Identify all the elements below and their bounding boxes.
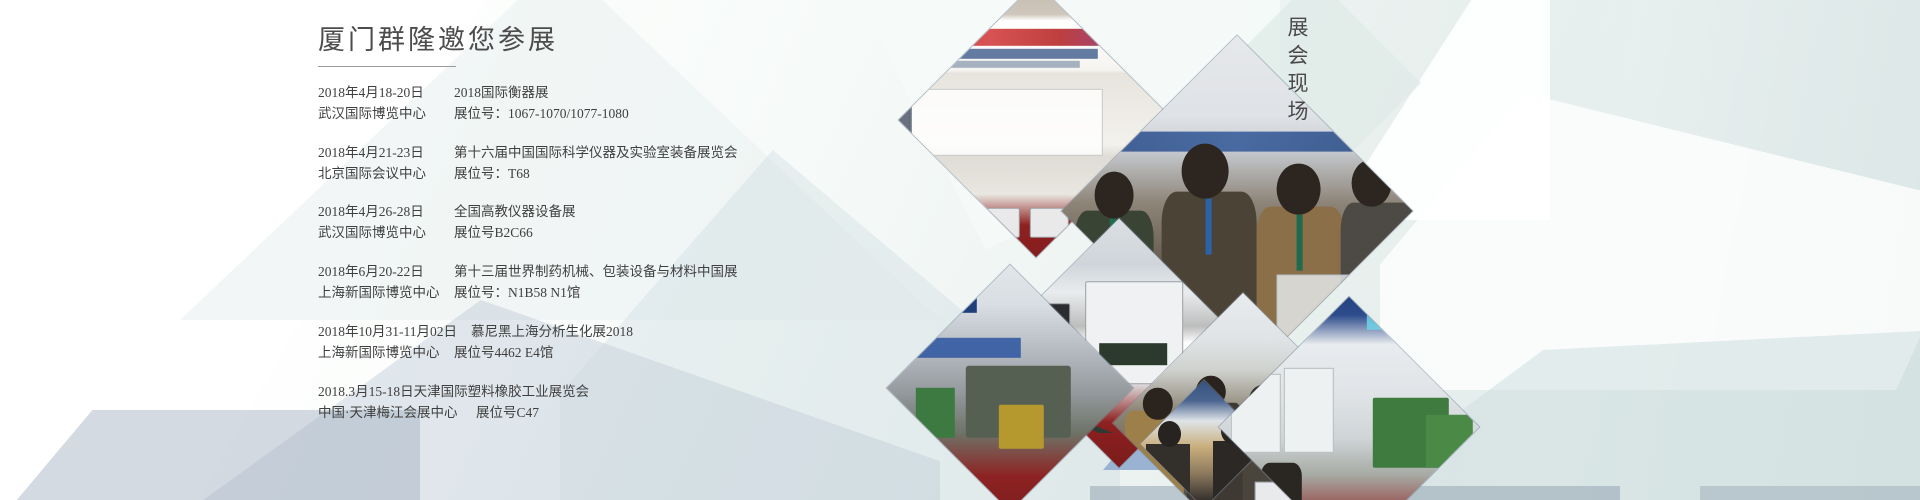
visitor-head xyxy=(1094,171,1134,219)
exhibition-entry-6: 2018.3月15-18日天津国际塑料橡胶工业展览会 中国·天津梅江会展中心展位… xyxy=(318,382,938,424)
booth-logo xyxy=(1367,312,1444,330)
photo-collage xyxy=(1020,0,1440,500)
entry-venue: 上海新国际博览中心 xyxy=(318,283,440,304)
exhibition-entry-5: 2018年10月31-11月02日慕尼黑上海分析生化展2018 上海新国际博览中… xyxy=(318,322,938,364)
entry-booth: 展位号B2C66 xyxy=(440,223,533,244)
display-cabinet xyxy=(1284,368,1333,452)
entry-event: 第十三届世界制药机械、包装设备与材料中国展 xyxy=(440,262,738,283)
exhibition-entry-3: 2018年4月26-28日全国高教仪器设备展 武汉国际博览中心展位号B2C66 xyxy=(318,202,938,244)
entry-date: 2018年4月21-23日 xyxy=(318,143,440,164)
bottom-bar-right xyxy=(1700,486,1920,500)
entry-event: 第十六届中国国际科学仪器及实验室装备展览会 xyxy=(440,143,738,164)
entry-venue: 武汉国际博览中心 xyxy=(318,223,440,244)
entry-booth: 展位号：N1B58 N1馆 xyxy=(440,283,580,304)
entry-venue: 上海新国际博览中心 xyxy=(318,343,440,364)
page-title: 厦门群隆邀您参展 xyxy=(318,24,938,58)
entry-venue: 北京国际会议中心 xyxy=(318,164,440,185)
entry-booth: 展位号：T68 xyxy=(440,164,530,185)
entry-event: 全国高教仪器设备展 xyxy=(440,202,576,223)
person-head xyxy=(1158,421,1181,447)
vertical-label: 展会现场 xyxy=(1286,16,1307,128)
exhibition-entry-4: 2018年6月20-22日第十三届世界制药机械、包装设备与材料中国展 上海新国际… xyxy=(318,262,938,304)
exhibition-banner: 厦门群隆邀您参展 2018年4月18-20日2018国际衡器展 武汉国际博览中心… xyxy=(0,0,1920,500)
entry-date: 2018年4月26-28日 xyxy=(318,202,440,223)
entry-booth: 展位号C47 xyxy=(476,403,539,424)
machine-accent xyxy=(999,405,1044,450)
entry-booth: 展位号4462 E4馆 xyxy=(440,343,553,364)
visitor-lanyard xyxy=(1205,199,1211,255)
entry-booth: 展位号：1067-1070/1077-1080 xyxy=(440,104,629,125)
entry-date: 2018年10月31-11月02日 xyxy=(318,322,457,343)
entry-event: 慕尼黑上海分析生化展2018 xyxy=(457,322,633,343)
visitor-head xyxy=(1277,163,1321,215)
entry-venue: 中国·天津梅江会展中心 xyxy=(318,403,476,424)
title-underline xyxy=(318,66,456,67)
visitor-head xyxy=(1352,159,1392,207)
entry-event: 2018国际衡器展 xyxy=(440,83,549,104)
entry-venue: 武汉国际博览中心 xyxy=(318,104,440,125)
entry-date: 2018.3月15-18日天津国际塑料橡胶工业展览会 xyxy=(318,382,589,403)
exhibition-entry-2: 2018年4月21-23日第十六届中国国际科学仪器及实验室装备展览会 北京国际会… xyxy=(318,143,938,185)
entry-date: 2018年6月20-22日 xyxy=(318,262,440,283)
entry-date: 2018年4月18-20日 xyxy=(318,83,440,104)
exhibition-entry-1: 2018年4月18-20日2018国际衡器展 武汉国际博览中心展位号：1067-… xyxy=(318,83,938,125)
exhibition-list-panel: 厦门群隆邀您参展 2018年4月18-20日2018国际衡器展 武汉国际博览中心… xyxy=(318,24,938,442)
visitor-lanyard xyxy=(1297,215,1303,271)
